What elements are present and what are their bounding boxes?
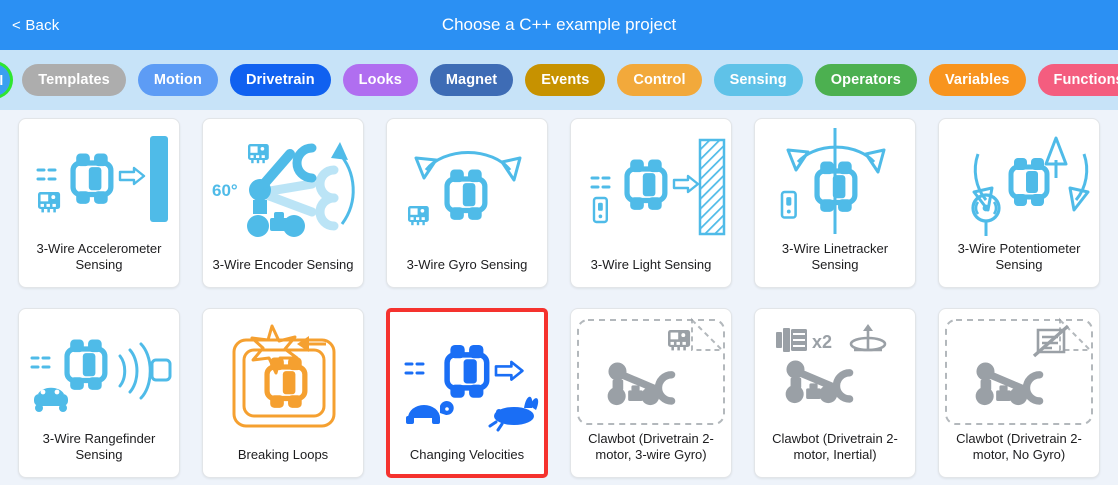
- project-card[interactable]: x2 Clawbot (Drivetrain 2-motor, Inertial…: [754, 308, 916, 478]
- potentiometer-icon: [939, 119, 1099, 241]
- project-card-label: Clawbot (Drivetrain 2-motor, No Gyro): [939, 431, 1099, 477]
- filter-pill-label: Sensing: [730, 72, 787, 88]
- project-card[interactable]: 3-Wire Gyro Sensing: [386, 118, 548, 288]
- filter-pill-templates[interactable]: Templates: [22, 64, 126, 96]
- filter-pill-operators[interactable]: Operators: [815, 64, 917, 96]
- project-card-label: Clawbot (Drivetrain 2-motor, 3-wire Gyro…: [571, 431, 731, 477]
- filter-pill-label: Motion: [154, 72, 202, 88]
- accelerometer-icon: [19, 119, 179, 241]
- tortoise-hare-icon: [390, 312, 544, 447]
- category-filter-bar: AllTemplatesMotionDrivetrainLooksMagnetE…: [0, 50, 1118, 110]
- filter-pill-magnet[interactable]: Magnet: [430, 64, 513, 96]
- filter-pill-label: Drivetrain: [246, 72, 315, 88]
- gyro-icon: [387, 119, 547, 257]
- clawbot-gyro-icon: [571, 309, 731, 431]
- back-button[interactable]: < Back: [12, 17, 59, 34]
- project-card-label: Changing Velocities: [390, 447, 544, 474]
- svg-text:x2: x2: [812, 332, 832, 352]
- project-card[interactable]: Changing Velocities: [386, 308, 548, 478]
- project-card[interactable]: 60°3-Wire Encoder Sensing: [202, 118, 364, 288]
- breaking-loops-icon: [203, 309, 363, 447]
- filter-pill-motion[interactable]: Motion: [138, 64, 218, 96]
- encoder-icon: 60°: [203, 119, 363, 257]
- filter-pill-label: Control: [633, 72, 685, 88]
- project-card[interactable]: Clawbot (Drivetrain 2-motor, No Gyro): [938, 308, 1100, 478]
- filter-pill-variables[interactable]: Variables: [929, 64, 1026, 96]
- filter-pill-control[interactable]: Control: [617, 64, 701, 96]
- filter-pill-sensing[interactable]: Sensing: [714, 64, 803, 96]
- project-card-label: 3-Wire Potentiometer Sensing: [939, 241, 1099, 287]
- project-card-label: 3-Wire Rangefinder Sensing: [19, 431, 179, 477]
- project-card[interactable]: 3-Wire Potentiometer Sensing: [938, 118, 1100, 288]
- project-card[interactable]: Breaking Loops: [202, 308, 364, 478]
- project-card[interactable]: 3-Wire Accelerometer Sensing: [18, 118, 180, 288]
- project-card-label: Clawbot (Drivetrain 2-motor, Inertial): [755, 431, 915, 477]
- page-title: Choose a C++ example project: [0, 15, 1118, 35]
- example-project-grid: 3-Wire Accelerometer Sensing: [0, 110, 1118, 478]
- rangefinder-icon: [19, 309, 179, 431]
- filter-pill-label: Operators: [831, 72, 901, 88]
- filter-pill-label: Looks: [359, 72, 402, 88]
- project-card-label: 3-Wire Encoder Sensing: [203, 257, 363, 287]
- filter-pill-events[interactable]: Events: [525, 64, 605, 96]
- filter-pill-label: Variables: [945, 72, 1010, 88]
- svg-text:60°: 60°: [212, 181, 238, 200]
- project-card-label: 3-Wire Accelerometer Sensing: [19, 241, 179, 287]
- app-header: < Back Choose a C++ example project: [0, 0, 1118, 50]
- project-card-label: 3-Wire Linetracker Sensing: [755, 241, 915, 287]
- project-card[interactable]: 3-Wire Light Sensing: [570, 118, 732, 288]
- filter-pill-functions[interactable]: Functions: [1038, 64, 1118, 96]
- project-card-label: Breaking Loops: [203, 447, 363, 477]
- filter-pill-label: Magnet: [446, 72, 497, 88]
- filter-pill-label: Events: [541, 72, 589, 88]
- filter-pill-label: Functions: [1054, 72, 1118, 88]
- filter-pill-drivetrain[interactable]: Drivetrain: [230, 64, 331, 96]
- light-icon: [571, 119, 731, 257]
- project-card[interactable]: Clawbot (Drivetrain 2-motor, 3-wire Gyro…: [570, 308, 732, 478]
- linetracker-icon: [755, 119, 915, 241]
- filter-pill-label: Templates: [38, 72, 110, 88]
- filter-pill-all[interactable]: All: [0, 64, 10, 96]
- clawbot-nogyro-icon: [939, 309, 1099, 431]
- project-card[interactable]: 3-Wire Linetracker Sensing: [754, 118, 916, 288]
- project-card-label: 3-Wire Light Sensing: [571, 257, 731, 287]
- project-card[interactable]: 3-Wire Rangefinder Sensing: [18, 308, 180, 478]
- clawbot-inertial-icon: x2: [755, 309, 915, 431]
- filter-pill-looks[interactable]: Looks: [343, 64, 418, 96]
- filter-pill-label: All: [0, 72, 3, 88]
- project-card-label: 3-Wire Gyro Sensing: [387, 257, 547, 287]
